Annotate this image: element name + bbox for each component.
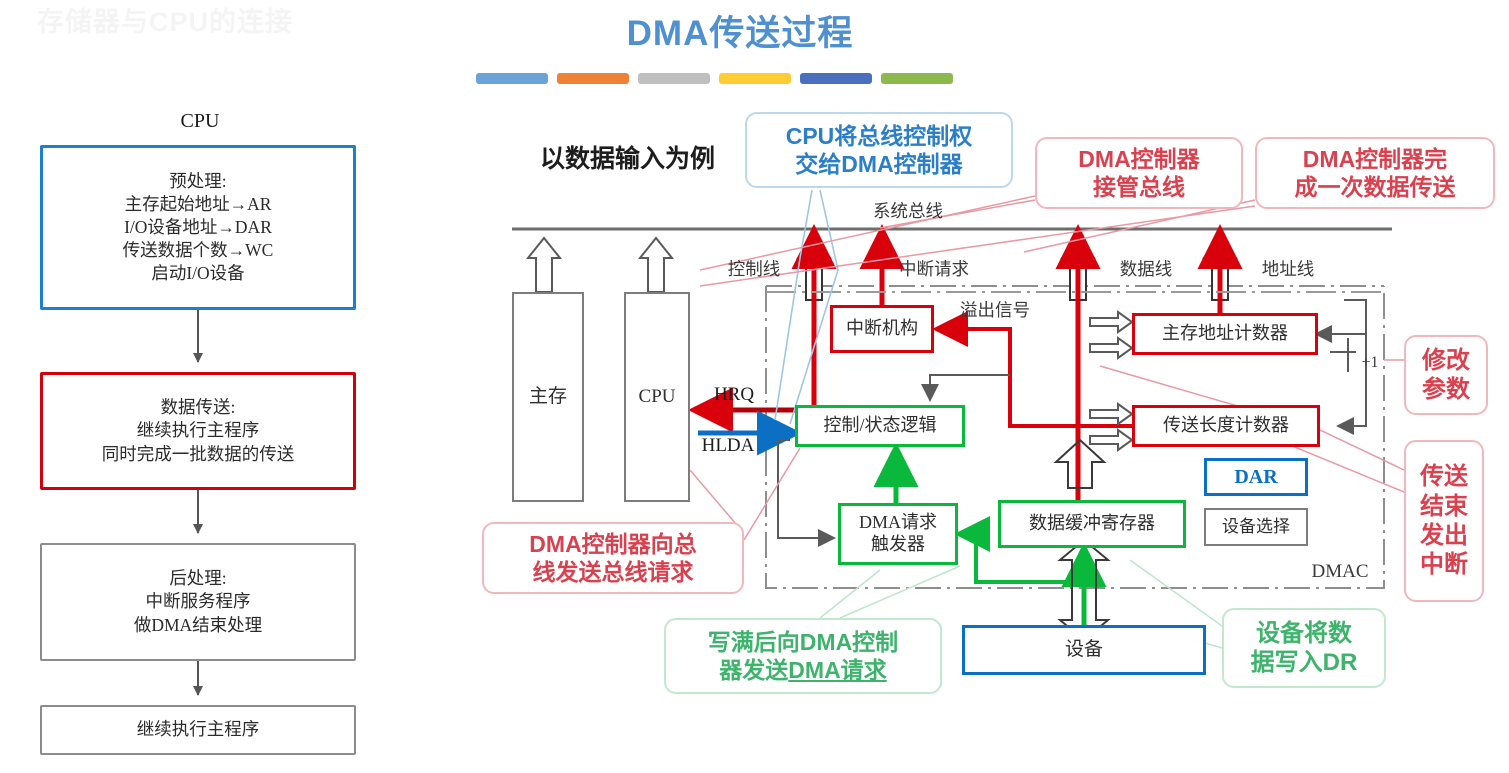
callout-modify-parameters: 修改 参数: [1404, 335, 1488, 415]
callout-send-req-line-2: 线发送总线请求: [529, 558, 696, 586]
dma-request-ff-line-2: 触发器: [859, 534, 937, 556]
callout-buf-full-line-2: 器发送DMA请求: [708, 656, 898, 684]
callout-cpu-hands-over-bus: CPU将总线控制权 交给DMA控制器: [745, 112, 1013, 188]
callout-done-line-1: DMA控制器完: [1295, 145, 1456, 173]
dmac-boundary-label: DMAC: [1300, 560, 1380, 584]
bus-label-system-bus: 系统总线: [848, 198, 968, 222]
callout-send-bus-request: DMA控制器向总 线发送总线请求: [482, 522, 744, 594]
callout-modify-line-2: 参数: [1422, 375, 1470, 404]
callout-end-int-line-3: 发出: [1420, 521, 1468, 550]
callout-cpu-bus-line-1: CPU将总线控制权: [786, 122, 973, 150]
bus-label-interrupt-request: 中断请求: [886, 256, 982, 280]
callout-modify-line-1: 修改: [1422, 346, 1470, 375]
callout-end-int-line-4: 中断: [1420, 550, 1468, 579]
signal-label-hrq: HRQ: [706, 383, 762, 407]
callout-end-int-line-2: 结束: [1420, 492, 1468, 521]
bus-label-control-line: 控制线: [714, 256, 794, 280]
bus-label-data-line: 数据线: [1106, 256, 1186, 280]
callout-buffer-full-dma-request: 写满后向DMA控制 器发送DMA请求: [664, 618, 942, 694]
callout-dev-dr-line-2: 据写入DR: [1251, 648, 1358, 677]
callout-device-writes-dr: 设备将数 据写入DR: [1222, 608, 1386, 688]
block-device: 设备: [962, 625, 1206, 675]
block-device-select: 设备选择: [1204, 508, 1308, 546]
callout-end-of-transfer-interrupt: 传送 结束 发出 中断: [1404, 440, 1484, 602]
callout-dma-takes-over-bus: DMA控制器 接管总线: [1035, 137, 1243, 209]
signal-label-increment: +1: [1353, 352, 1387, 374]
callout-end-int-line-1: 传送: [1420, 462, 1468, 491]
callout-buf-full-line-1: 写满后向DMA控制: [708, 628, 898, 656]
callout-cpu-bus-line-2: 交给DMA控制器: [786, 150, 973, 178]
signal-label-hlda: HLDA: [692, 434, 764, 458]
block-dma-request-flipflop: DMA请求 触发器: [838, 503, 958, 565]
callout-done-line-2: 成一次数据传送: [1295, 173, 1456, 201]
block-transfer-length-counter: 传送长度计数器: [1132, 405, 1320, 447]
callout-transfer-complete: DMA控制器完 成一次数据传送: [1255, 137, 1495, 209]
signal-label-overflow: 溢出信号: [945, 297, 1045, 321]
dma-request-ff-line-1: DMA请求: [859, 512, 937, 534]
callout-buf-full-line-2a: 器发送: [719, 657, 788, 683]
block-control-status-logic: 控制/状态逻辑: [795, 405, 965, 447]
block-interrupt-unit: 中断机构: [830, 305, 934, 353]
block-data-buffer-register: 数据缓冲寄存器: [998, 500, 1186, 548]
block-dar: DAR: [1204, 458, 1308, 496]
block-main-memory: 主存: [512, 292, 584, 502]
block-memory-address-counter: 主存地址计数器: [1132, 313, 1318, 355]
callout-send-req-line-1: DMA控制器向总: [529, 530, 696, 558]
bus-label-address-line: 地址线: [1248, 256, 1328, 280]
block-cpu: CPU: [624, 292, 690, 502]
callout-take-bus-line-1: DMA控制器: [1078, 145, 1199, 173]
callout-take-bus-line-2: 接管总线: [1078, 173, 1199, 201]
callout-buf-full-line-2b: DMA请求: [788, 657, 886, 683]
callout-dev-dr-line-1: 设备将数: [1251, 619, 1358, 648]
